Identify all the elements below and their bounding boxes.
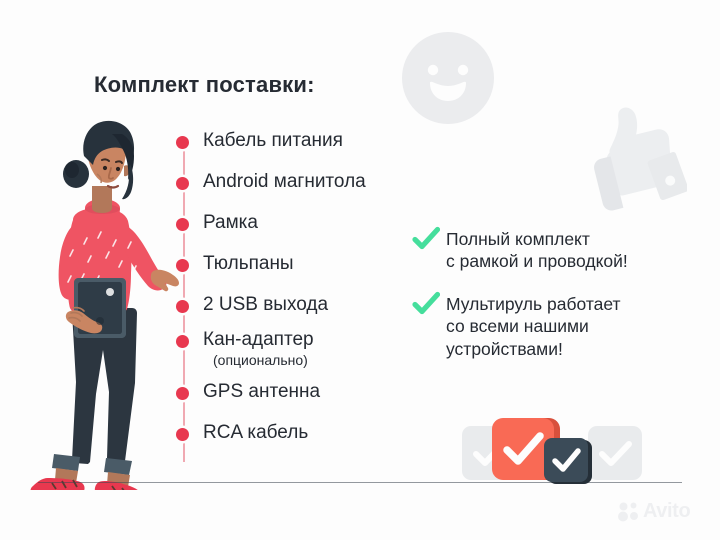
avito-watermark: Avito (618, 500, 690, 523)
list-item: Android магнитола (176, 171, 426, 193)
highlight-line: устройствами! (446, 338, 621, 360)
green-check-icon (412, 225, 440, 253)
bullet-dot-icon (176, 259, 189, 272)
avito-logo-icon (618, 501, 640, 523)
avito-watermark-text: Avito (643, 500, 690, 523)
thumbs-up-icon (572, 104, 687, 216)
bullet-dot-icon (176, 335, 189, 348)
checkbox-dark (544, 438, 588, 482)
list-item-label: Рамка (203, 212, 258, 234)
bullet-dot-icon (176, 300, 189, 313)
smiley-face-icon (398, 28, 498, 128)
list-item-label: RCA кабель (203, 422, 308, 444)
highlight-item: Мультируль работает со всеми нашими устр… (412, 293, 621, 360)
list-item-label: GPS антенна (203, 381, 320, 403)
list-item: Кабель питания (176, 130, 426, 152)
highlight-line: со всеми нашими (446, 315, 621, 337)
list-item-label: 2 USB выхода (203, 294, 328, 316)
highlight-item: Полный комплект с рамкой и проводкой! (412, 228, 628, 273)
list-item: 2 USB выхода (176, 294, 426, 316)
list-item-label: Кабель питания (203, 130, 343, 152)
highlight-line: Полный комплект (446, 228, 628, 250)
highlight-line: с рамкой и проводкой! (446, 250, 628, 272)
list-item: GPS антенна (176, 381, 426, 403)
bullet-dot-icon (176, 177, 189, 190)
list-item: Тюльпаны (176, 253, 426, 275)
highlight-line: Мультируль работает (446, 293, 621, 315)
person-illustration (18, 112, 188, 490)
highlight-text: Полный комплект с рамкой и проводкой! (446, 228, 628, 273)
page-title: Комплект поставки: (94, 72, 315, 98)
list-item-label: Тюльпаны (203, 253, 294, 275)
bullet-dot-icon (176, 136, 189, 149)
checkbox-gray-right (588, 426, 642, 480)
list-item-sublabel: (опционально) (213, 352, 314, 368)
bullet-dot-icon (176, 218, 189, 231)
highlight-text: Мультируль работает со всеми нашими устр… (446, 293, 621, 360)
list-item-label: Android магнитола (203, 171, 366, 193)
list-item: Кан-адаптер (опционально) (176, 329, 426, 368)
bullet-dot-icon (176, 387, 189, 400)
slide-canvas: Комплект поставки: Кабель питания Androi… (0, 0, 720, 540)
list-item: Рамка (176, 212, 426, 234)
list-item-label: Кан-адаптер (203, 329, 314, 350)
list-item: RCA кабель (176, 422, 426, 444)
green-check-icon (412, 290, 440, 318)
bullet-dot-icon (176, 428, 189, 441)
package-list: Кабель питания Android магнитола Рамка Т… (176, 130, 426, 463)
checkbox-cluster (462, 414, 642, 484)
